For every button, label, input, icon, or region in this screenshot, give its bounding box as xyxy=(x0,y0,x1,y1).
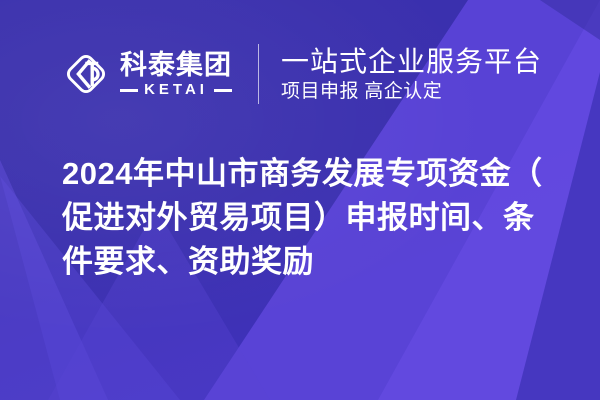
wordmark-dash-left xyxy=(120,89,138,92)
brand-logo[interactable]: 科泰集团 KETAI xyxy=(62,50,232,98)
banner-header: 科泰集团 KETAI 一站式企业服务平台 项目申报 高企认定 xyxy=(0,36,600,112)
wordmark-dash-right xyxy=(214,89,232,92)
header-divider xyxy=(258,44,259,104)
ketai-diamond-kt-logo-icon xyxy=(62,50,110,98)
tagline-main: 一站式企业服务平台 xyxy=(281,45,542,78)
tagline-sub: 项目申报 高企认定 xyxy=(281,80,542,104)
page-title-line-2: 促进对外贸易项目）申报时间、条 xyxy=(62,196,567,240)
brand-wordmark: 科泰集团 KETAI xyxy=(120,50,232,98)
brand-name-en-row: KETAI xyxy=(120,82,232,98)
page-title-line-1: 2024年中山市商务发展专项资金（ xyxy=(62,152,567,196)
tagline: 一站式企业服务平台 项目申报 高企认定 xyxy=(281,45,542,104)
page-title: 2024年中山市商务发展专项资金（ 促进对外贸易项目）申报时间、条 件要求、资助… xyxy=(62,152,567,284)
brand-name-en: KETAI xyxy=(138,82,214,98)
brand-name-cn: 科泰集团 xyxy=(120,50,232,80)
promo-banner: 科泰集团 KETAI 一站式企业服务平台 项目申报 高企认定 2024年中山市商… xyxy=(0,0,600,400)
page-title-line-3: 件要求、资助奖励 xyxy=(62,240,567,284)
